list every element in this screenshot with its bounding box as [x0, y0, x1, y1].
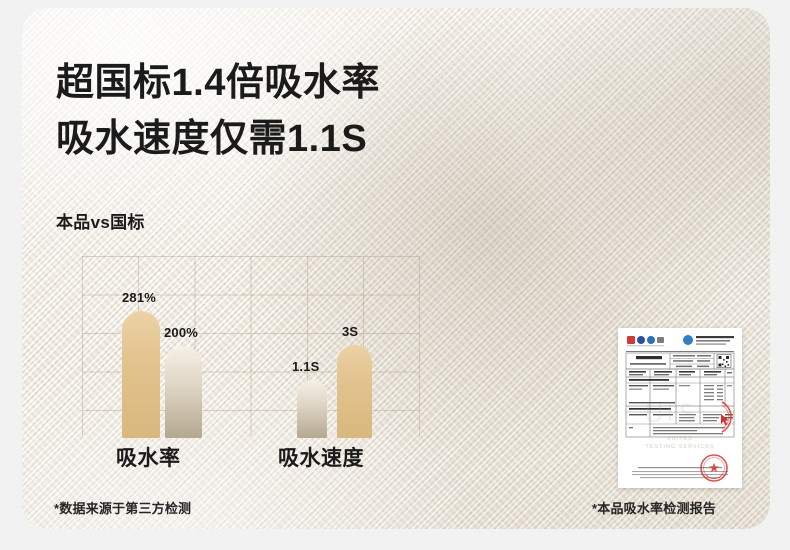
chart-bar: [122, 311, 160, 438]
chart-bar-value-label: 200%: [164, 325, 198, 340]
chart-bar: [337, 345, 372, 438]
chart-grid-right-edge: [419, 256, 420, 436]
comparison-bar-chart: 281%200%1.1S3S 吸水率吸水速度: [60, 256, 420, 438]
chart-bar: [165, 346, 202, 438]
page-title: 超国标1.4倍吸水率 吸水速度仅需1.1S: [56, 56, 380, 168]
footnote-data-source: *数据来源于第三方检测: [54, 498, 191, 517]
poster-card: 超国标1.4倍吸水率 吸水速度仅需1.1S 本品vs国标 281%200%1.1…: [22, 8, 770, 529]
svg-text:TESTING SERVICES: TESTING SERVICES: [645, 444, 714, 450]
test-report-document-image: UNITED TESTING SERVICES: [618, 328, 742, 488]
footnote-report-caption: *本品吸水率检测报告: [592, 498, 716, 517]
headline-line-2: 吸水速度仅需1.1S: [56, 112, 380, 168]
chart-bar-value-label: 1.1S: [292, 359, 320, 374]
chart-bar-value-label: 3S: [342, 324, 358, 339]
chart-bar-value-label: 281%: [122, 290, 156, 305]
chart-subtitle: 本品vs国标: [56, 208, 145, 233]
svg-text:UNITED: UNITED: [667, 436, 693, 442]
chart-bar: [297, 380, 327, 438]
chart-category-label: 吸水率: [116, 442, 181, 472]
test-report-thumbnail[interactable]: UNITED TESTING SERVICES: [618, 328, 742, 488]
chart-category-label: 吸水速度: [278, 442, 364, 472]
headline-line-1: 超国标1.4倍吸水率: [56, 56, 380, 112]
